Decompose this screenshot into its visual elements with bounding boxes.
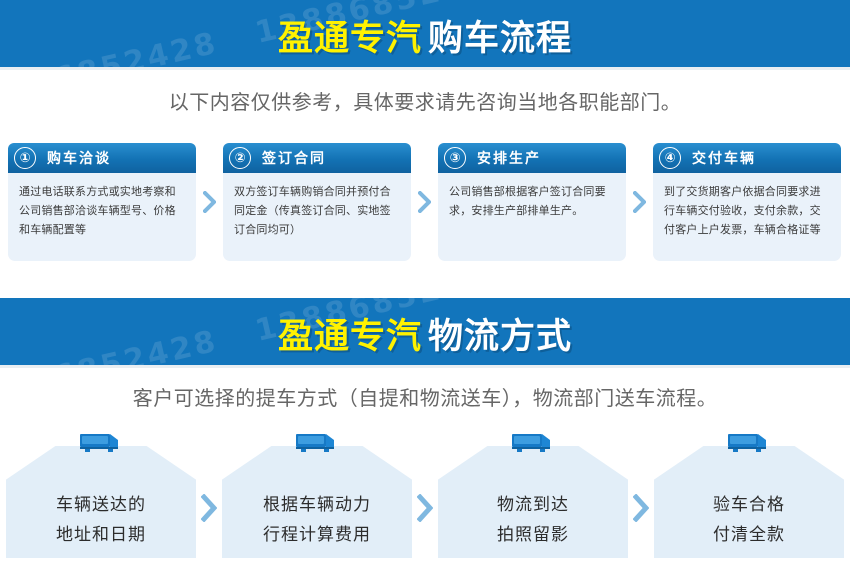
step-card-2[interactable]: ② 签订合同 双方签订车辆购销合同并预付合同定金（传真签订合同、实地签订合同均可… — [223, 143, 411, 261]
step-card-4[interactable]: ④ 交付车辆 到了交货期客户依据合同要求进行车辆交付验收，支付余款，交付客户上户… — [653, 143, 841, 261]
step-number-badge: ① — [14, 147, 36, 169]
logistics-item-4[interactable]: 验车合格 付清全款 — [654, 430, 844, 558]
truck-icon — [510, 430, 556, 454]
chevron-right-icon — [203, 191, 216, 213]
logistics-item-4-line1: 验车合格 — [654, 490, 844, 520]
step-number-badge: ③ — [444, 147, 466, 169]
chevron-right-icon — [417, 494, 433, 522]
truck-icon — [78, 430, 124, 454]
logistics-item-4-label: 验车合格 付清全款 — [654, 490, 844, 550]
logistics-item-3-line1: 物流到达 — [438, 490, 628, 520]
logistics-item-2-line1: 根据车辆动力 — [222, 490, 412, 520]
section-1-subtitle: 以下内容仅供参考，具体要求请先咨询当地各职能部门。 — [0, 86, 850, 115]
step-arrow-3 — [626, 143, 653, 261]
logistics-arrow-1 — [196, 430, 222, 558]
step-card-4-title: 交付车辆 — [692, 148, 756, 168]
logistics-item-4-line2: 付清全款 — [654, 520, 844, 550]
chevron-right-icon — [633, 494, 649, 522]
truck-icon — [726, 430, 772, 454]
logistics-item-3-line2: 拍照留影 — [438, 520, 628, 550]
step-card-2-body: 双方签订车辆购销合同并预付合同定金（传真签订合同、实地签订合同均可） — [223, 173, 411, 261]
step-number-badge: ② — [229, 147, 251, 169]
brand-name: 盈通专汽 — [278, 308, 422, 359]
step-card-1-header: ① 购车洽谈 — [8, 143, 196, 173]
logistics-item-2-label: 根据车辆动力 行程计算费用 — [222, 490, 412, 550]
logistics-steps-row: 车辆送达的 地址和日期 根据车辆动力 行程计算费用 — [6, 430, 844, 558]
logistics-item-2-line2: 行程计算费用 — [222, 520, 412, 550]
step-card-1[interactable]: ① 购车洽谈 通过电话联系方式或实地考察和公司销售部洽谈车辆型号、价格和车辆配置… — [8, 143, 196, 261]
logistics-item-3[interactable]: 物流到达 拍照留影 — [438, 430, 628, 558]
logistics-arrow-3 — [628, 430, 654, 558]
step-number-badge: ④ — [659, 147, 681, 169]
logistics-arrow-2 — [412, 430, 438, 558]
section-2-banner: 13886852428 13886852428 13886852428 1388… — [0, 298, 850, 368]
section-2-banner-title: 盈通专汽 物流方式 — [0, 298, 850, 368]
step-arrow-2 — [411, 143, 438, 261]
infographic-page: 13886852428 13886852428 13886852428 1388… — [0, 0, 850, 564]
step-card-2-header: ② 签订合同 — [223, 143, 411, 173]
step-card-3[interactable]: ③ 安排生产 公司销售部根据客户签订合同要求，安排生产部排单生产。 — [438, 143, 626, 261]
logistics-item-3-label: 物流到达 拍照留影 — [438, 490, 628, 550]
logistics-item-1-label: 车辆送达的 地址和日期 — [6, 490, 196, 550]
logistics-item-2[interactable]: 根据车辆动力 行程计算费用 — [222, 430, 412, 558]
step-card-3-body: 公司销售部根据客户签订合同要求，安排生产部排单生产。 — [438, 173, 626, 261]
step-card-3-title: 安排生产 — [477, 148, 541, 168]
step-card-1-title: 购车洽谈 — [47, 148, 111, 168]
chevron-right-icon — [201, 494, 217, 522]
logistics-item-1-line1: 车辆送达的 — [6, 490, 196, 520]
section-1-banner-title: 盈通专汽 购车流程 — [0, 0, 850, 70]
step-card-1-body: 通过电话联系方式或实地考察和公司销售部洽谈车辆型号、价格和车辆配置等 — [8, 173, 196, 261]
banner-headline: 物流方式 — [428, 308, 572, 359]
step-card-4-body: 到了交货期客户依据合同要求进行车辆交付验收，支付余款，交付客户上户发票，车辆合格… — [653, 173, 841, 261]
section-1-banner: 13886852428 13886852428 13886852428 1388… — [0, 0, 850, 70]
step-card-2-title: 签订合同 — [262, 148, 326, 168]
chevron-right-icon — [418, 191, 431, 213]
section-2-subtitle: 客户可选择的提车方式（自提和物流送车），物流部门送车流程。 — [0, 382, 850, 411]
step-arrow-1 — [196, 143, 223, 261]
purchase-steps-row: ① 购车洽谈 通过电话联系方式或实地考察和公司销售部洽谈车辆型号、价格和车辆配置… — [8, 143, 842, 261]
step-card-4-header: ④ 交付车辆 — [653, 143, 841, 173]
banner-headline: 购车流程 — [428, 10, 572, 61]
logistics-item-1[interactable]: 车辆送达的 地址和日期 — [6, 430, 196, 558]
logistics-item-1-line2: 地址和日期 — [6, 520, 196, 550]
brand-name: 盈通专汽 — [278, 10, 422, 61]
step-card-3-header: ③ 安排生产 — [438, 143, 626, 173]
chevron-right-icon — [633, 191, 646, 213]
truck-icon — [294, 430, 340, 454]
